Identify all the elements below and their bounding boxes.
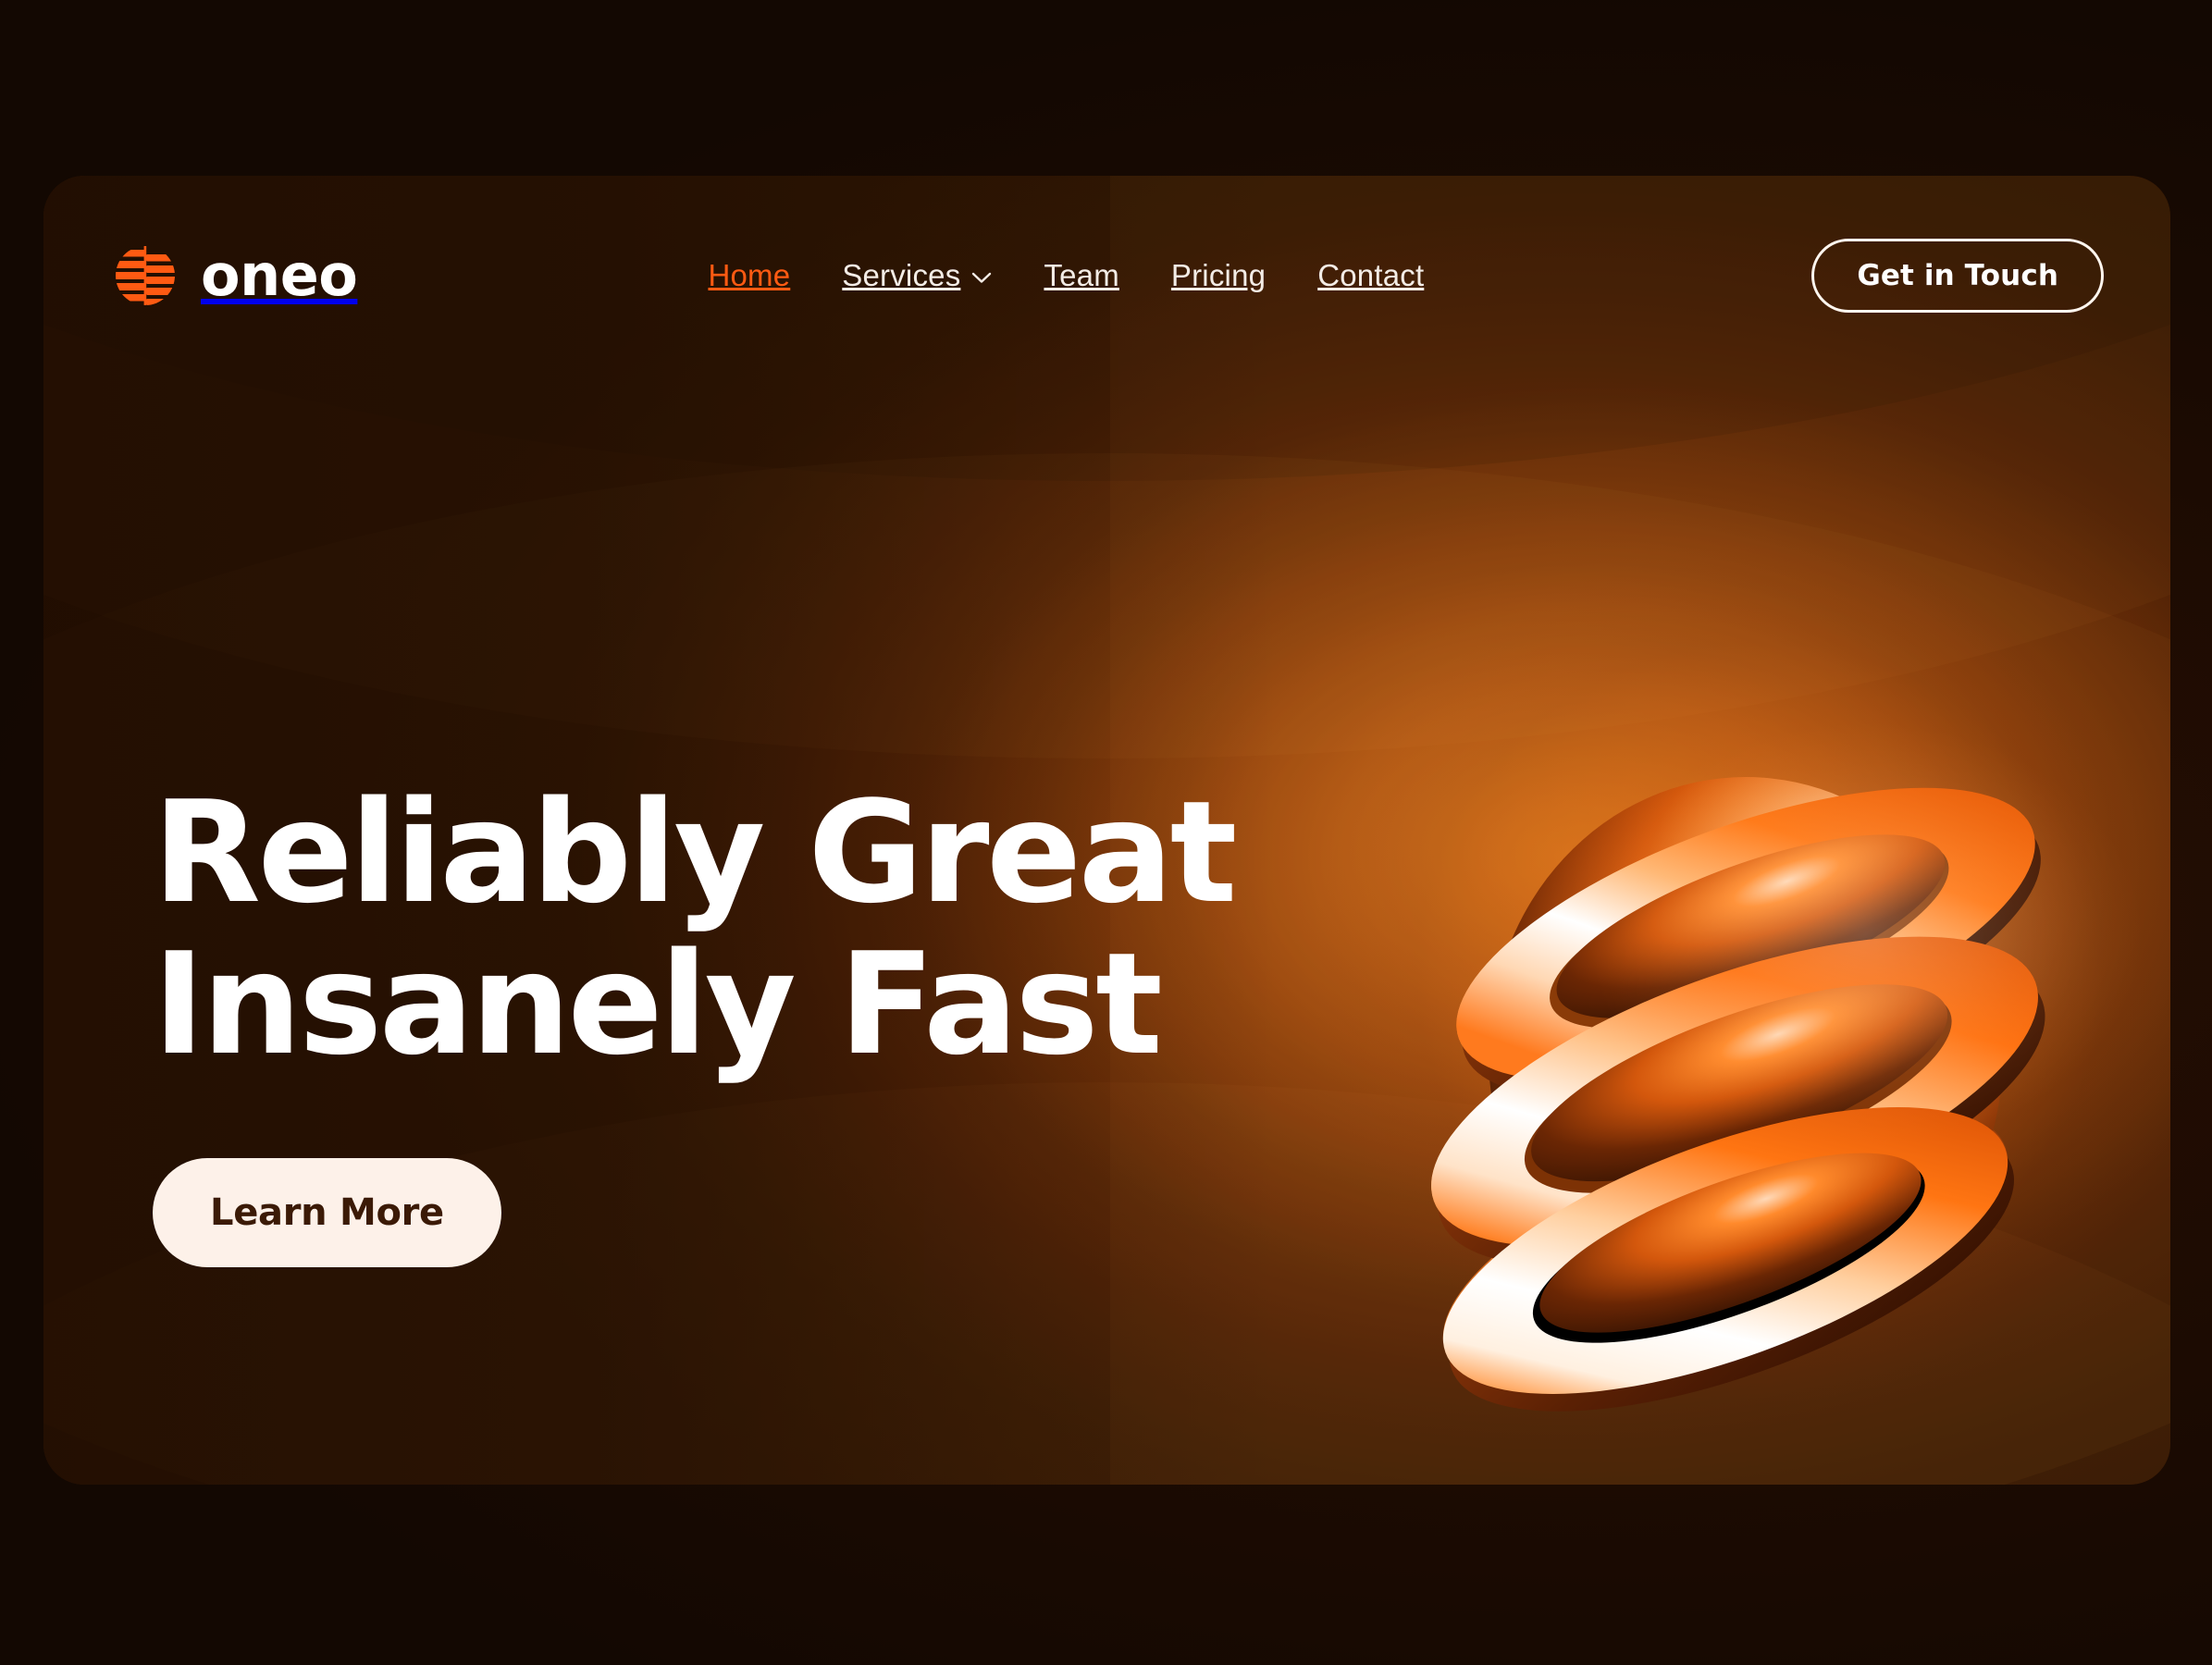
nav-item-label: Services	[842, 258, 960, 293]
nav-item-home[interactable]: Home	[708, 258, 790, 293]
nav-item-contact[interactable]: Contact	[1317, 258, 1424, 293]
nav-item-label: Team	[1044, 258, 1119, 293]
nav-item-team[interactable]: Team	[1044, 258, 1119, 293]
chevron-down-icon	[971, 272, 992, 284]
site-header: oneo Home Services Team Pricing	[43, 231, 2170, 320]
hero-headline-line-1: Reliably Great	[153, 777, 1309, 929]
hero-copy: Reliably Great Insanely Fast Learn More	[153, 777, 1309, 1267]
hero-card: oneo Home Services Team Pricing	[43, 176, 2170, 1485]
primary-navigation: Home Services Team Pricing Contact	[320, 258, 1811, 293]
nav-item-label: Contact	[1317, 258, 1424, 293]
nav-item-services[interactable]: Services	[842, 258, 992, 293]
hero-headline-line-2: Insanely Fast	[153, 929, 1309, 1080]
nav-item-label: Home	[708, 258, 790, 293]
nav-item-label: Pricing	[1171, 258, 1266, 293]
learn-more-button[interactable]: Learn More	[153, 1158, 501, 1267]
get-in-touch-button[interactable]: Get in Touch	[1811, 239, 2104, 313]
page-stage: oneo Home Services Team Pricing	[0, 0, 2212, 1665]
nav-item-pricing[interactable]: Pricing	[1171, 258, 1266, 293]
hero-headline: Reliably Great Insanely Fast	[153, 777, 1309, 1080]
striped-globe-icon	[112, 242, 179, 309]
